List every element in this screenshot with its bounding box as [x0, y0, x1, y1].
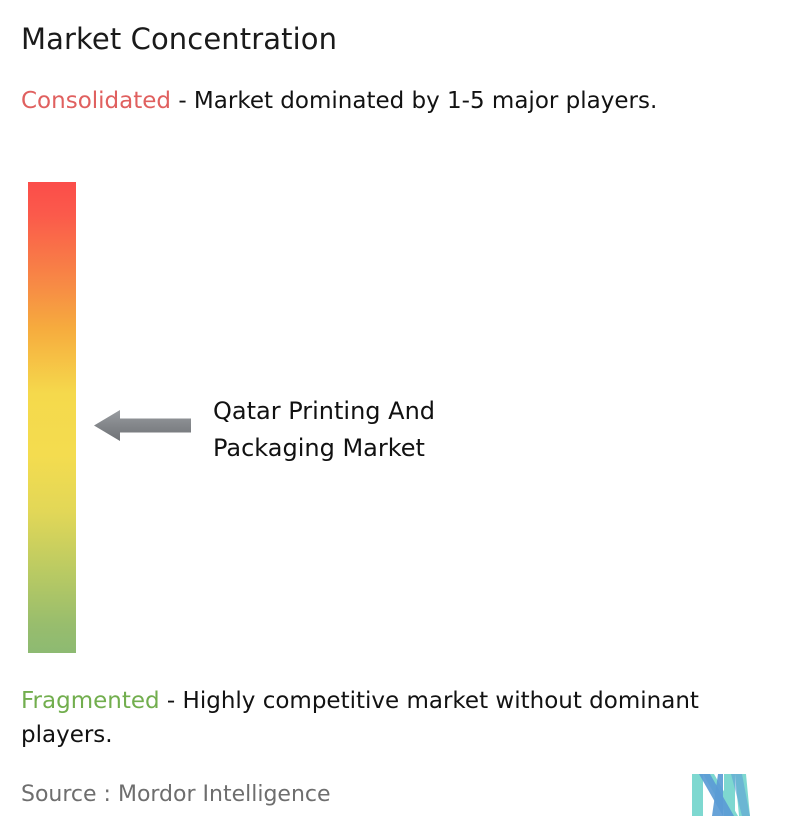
legend-consolidated-keyword: Consolidated [21, 88, 171, 114]
legend-consolidated: Consolidated - Market dominated by 1-5 m… [21, 84, 781, 118]
mordor-intelligence-logo-icon [690, 768, 752, 818]
concentration-gradient-bar [28, 182, 76, 653]
source-attribution: Source : Mordor Intelligence [21, 780, 331, 810]
legend-fragmented: Fragmented - Highly competitive market w… [21, 684, 793, 752]
market-pointer-label-line1: Qatar Printing And [213, 393, 543, 430]
page-title: Market Concentration [21, 20, 337, 58]
market-pointer-arrow-icon [94, 409, 191, 442]
legend-consolidated-description: - Market dominated by 1-5 major players. [171, 88, 657, 114]
legend-fragmented-keyword: Fragmented [21, 688, 160, 714]
market-pointer-label-line2: Packaging Market [213, 430, 543, 467]
market-pointer-label: Qatar Printing And Packaging Market [213, 393, 543, 467]
